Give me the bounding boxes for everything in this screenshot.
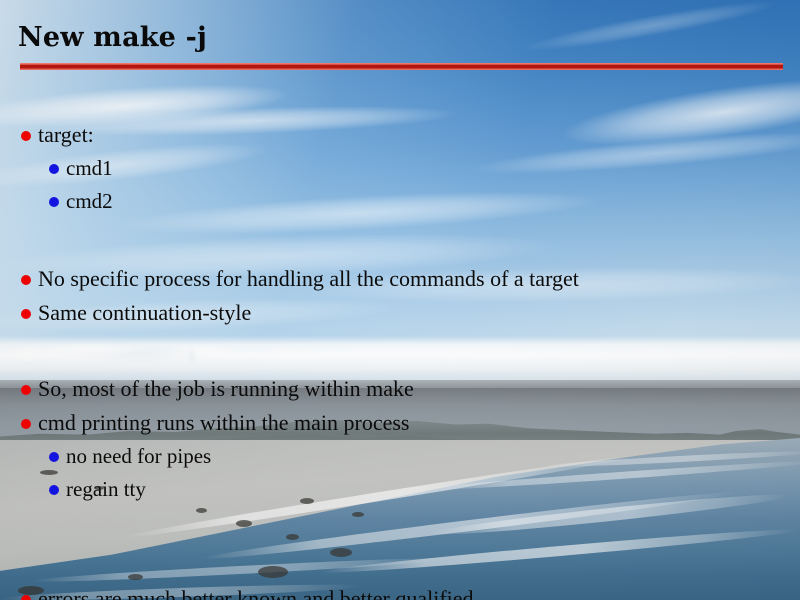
bullet-item: cmd printing runs within the main proces…	[0, 406, 800, 440]
slide-content: New make -j target: cmd1 cmd2 No specifi…	[0, 0, 800, 600]
bullet-text: errors are much better known and better …	[38, 582, 474, 600]
bullet-item: regain tty	[0, 473, 800, 506]
bullet-gap	[0, 330, 800, 372]
bullet-text: cmd1	[66, 152, 113, 185]
presentation-slide: New make -j target: cmd1 cmd2 No specifi…	[0, 0, 800, 600]
bullet-text: cmd printing runs within the main proces…	[38, 406, 410, 440]
bullet-dot-icon	[49, 197, 59, 207]
bullet-gap	[0, 550, 800, 582]
bullet-dot-icon	[21, 419, 31, 429]
bullet-text: Same continuation-style	[38, 296, 251, 330]
bullet-item: target:	[0, 118, 800, 152]
bullet-dot-icon	[49, 164, 59, 174]
bullet-dot-icon	[21, 385, 31, 395]
bullet-text: regain tty	[66, 473, 146, 506]
bullet-text: cmd2	[66, 185, 113, 218]
bullet-text: So, most of the job is running within ma…	[38, 372, 414, 406]
bullet-dot-icon	[21, 275, 31, 285]
bullet-dot-icon	[21, 595, 31, 600]
bullet-dot-icon	[21, 131, 31, 141]
bullet-dot-icon	[49, 485, 59, 495]
bullet-item: cmd1	[0, 152, 800, 185]
bullet-item: no need for pipes	[0, 440, 800, 473]
slide-title: New make -j	[18, 22, 207, 53]
bullet-text: target:	[38, 118, 94, 152]
bullet-item: errors are much better known and better …	[0, 582, 800, 600]
bullet-item: Same continuation-style	[0, 296, 800, 330]
bullet-gap	[0, 218, 800, 262]
bullet-gap	[0, 506, 800, 550]
bullet-text: No specific process for handling all the…	[38, 262, 579, 296]
bullet-item: So, most of the job is running within ma…	[0, 372, 800, 406]
bullet-list: target: cmd1 cmd2 No specific process fo…	[0, 118, 800, 600]
bullet-dot-icon	[49, 452, 59, 462]
bullet-dot-icon	[21, 309, 31, 319]
bullet-item: No specific process for handling all the…	[0, 262, 800, 296]
title-underline-rule	[20, 63, 783, 70]
bullet-text: no need for pipes	[66, 440, 211, 473]
bullet-item: cmd2	[0, 185, 800, 218]
